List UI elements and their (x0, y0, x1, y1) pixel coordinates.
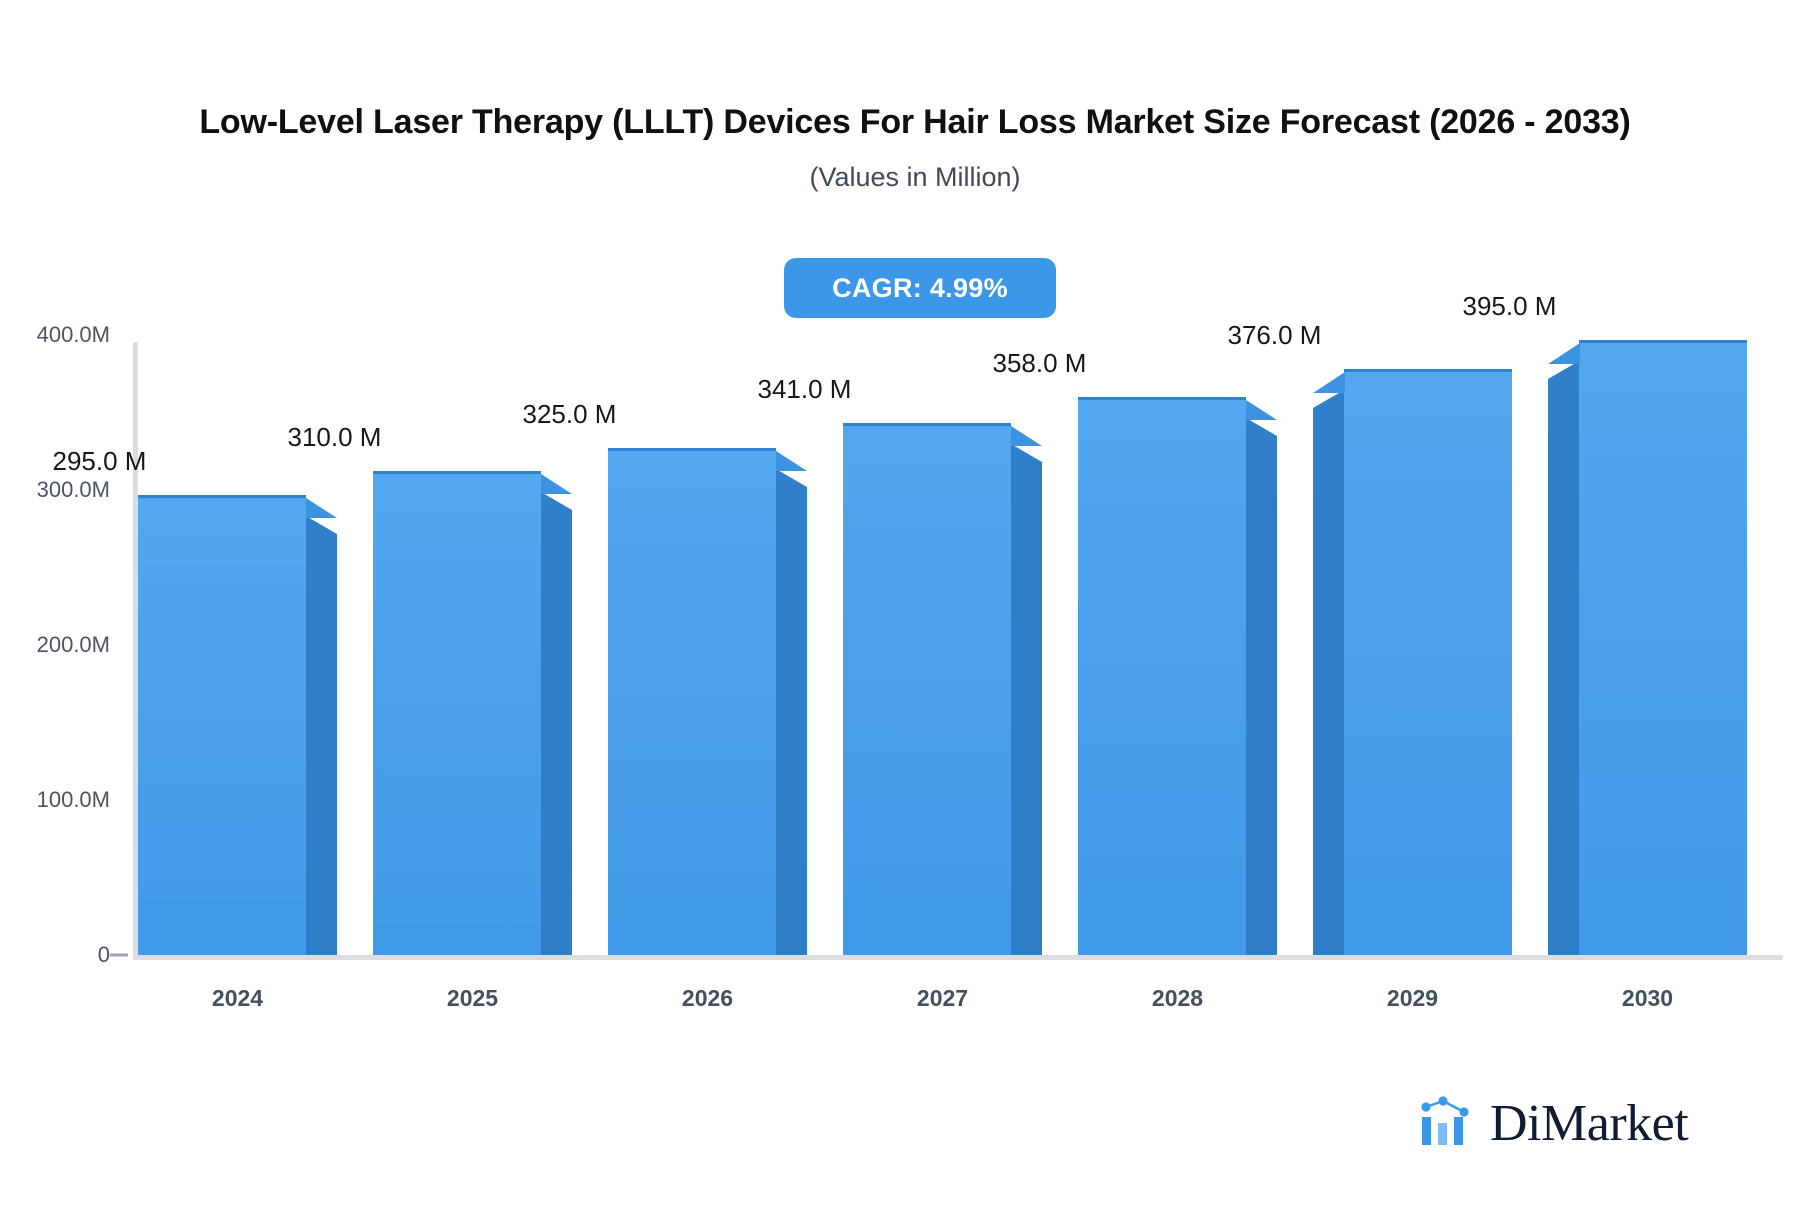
y-axis-tick-label: 0 (0, 942, 110, 968)
bar-front-face (373, 471, 541, 955)
bar-value-label: 325.0 M (470, 399, 669, 430)
bar-column[interactable] (373, 474, 572, 955)
bar-2026[interactable] (608, 451, 807, 955)
bar-side-face (1011, 444, 1042, 955)
x-axis-label-2026: 2026 (608, 985, 807, 1012)
bar-2030[interactable] (1548, 343, 1747, 955)
bar-side-face (1246, 418, 1277, 955)
plot-area: 0100.0M200.0M300.0M400.0M 295.0 M310.0 M… (0, 330, 1800, 960)
y-axis-tick-label: 200.0M (0, 632, 110, 658)
chart-canvas: Low-Level Laser Therapy (LLLT) Devices F… (0, 0, 1800, 1212)
bar-column[interactable] (138, 498, 337, 955)
bar-front-face (1078, 397, 1246, 955)
bar-side-face (776, 469, 807, 955)
bar-front-face (1579, 340, 1747, 955)
bar-value-label: 376.0 M (1175, 320, 1374, 351)
bar-value-label: 310.0 M (235, 422, 434, 453)
y-axis-tick-label: 300.0M (0, 477, 110, 503)
bar-top-face (541, 474, 572, 494)
chart-subtitle: (Values in Million) (90, 161, 1740, 193)
bar-value-label: 358.0 M (940, 348, 1139, 379)
bar-column[interactable] (843, 426, 1042, 955)
bar-top-face (306, 498, 337, 518)
bar-2025[interactable] (373, 474, 572, 955)
x-axis-label-2029: 2029 (1313, 985, 1512, 1012)
brand-logo: DiMarket (1418, 1095, 1688, 1152)
bar-side-face (541, 492, 572, 955)
page-title: Low-Level Laser Therapy (LLLT) Devices F… (90, 100, 1740, 145)
x-axis-label-2028: 2028 (1078, 985, 1277, 1012)
bar-column[interactable] (1313, 372, 1512, 955)
x-axis-label-2030: 2030 (1548, 985, 1747, 1012)
bar-column[interactable] (1078, 400, 1277, 955)
bar-top-face (776, 451, 807, 471)
title-block: Low-Level Laser Therapy (LLLT) Devices F… (90, 100, 1740, 193)
bar-side-face (1313, 390, 1344, 955)
bar-top-face (1313, 372, 1345, 393)
bar-side-face (306, 516, 337, 955)
x-axis-labels: 2024202520262027202820292030 (138, 985, 1783, 1025)
cagr-badge-label: CAGR: 4.99% (832, 273, 1008, 304)
bar-side-face (1548, 361, 1579, 955)
bar-front-face (1344, 369, 1512, 955)
brand-name: DiMarket (1490, 1098, 1688, 1150)
bar-2024[interactable] (138, 498, 337, 955)
y-axis-tick-label: 400.0M (0, 322, 110, 348)
y-axis-tick-mark (110, 954, 128, 957)
bar-column[interactable] (1548, 343, 1747, 955)
bar-value-label: 341.0 M (705, 374, 904, 405)
bar-2029[interactable] (1313, 372, 1512, 955)
cagr-badge: CAGR: 4.99% (784, 258, 1056, 318)
x-axis-label-2025: 2025 (373, 985, 572, 1012)
x-axis-label-2027: 2027 (843, 985, 1042, 1012)
y-axis-tick-label: 100.0M (0, 787, 110, 813)
bar-2028[interactable] (1078, 400, 1277, 955)
bar-value-label: 295.0 M (0, 446, 199, 477)
bar-top-face (1011, 426, 1042, 446)
bar-front-face (608, 448, 776, 955)
bar-chart-icon (1418, 1095, 1476, 1152)
bar-front-face (843, 423, 1011, 955)
bar-top-face (1548, 343, 1580, 364)
bar-top-face (1246, 400, 1277, 420)
bar-2027[interactable] (843, 426, 1042, 955)
x-axis-label-2024: 2024 (138, 985, 337, 1012)
bar-front-face (138, 495, 306, 955)
bar-column[interactable] (608, 451, 807, 955)
bar-value-label: 395.0 M (1410, 291, 1609, 322)
